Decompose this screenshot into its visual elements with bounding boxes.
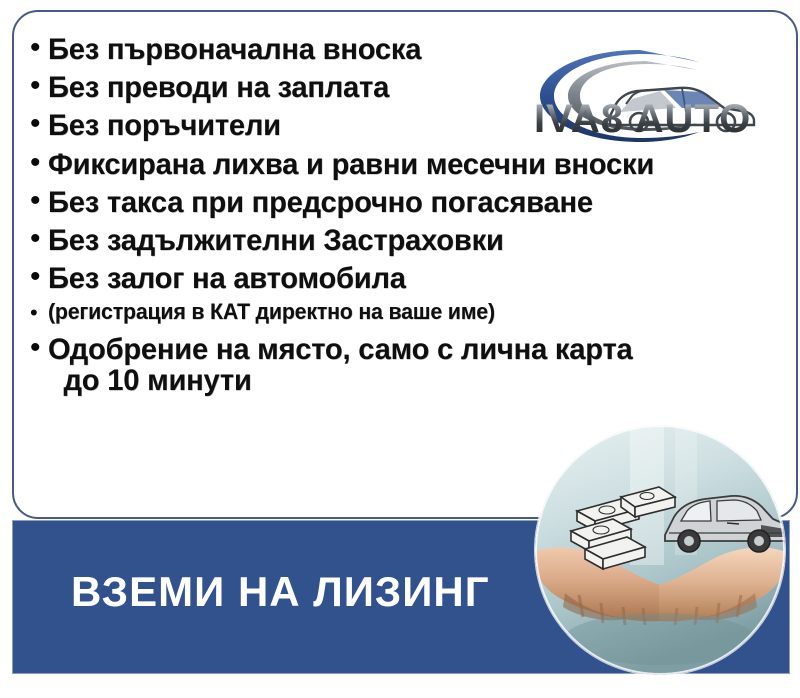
list-item: • Фиксирана лихва и равни месечни вноски <box>30 149 790 180</box>
bullet-dot-icon: • <box>30 34 48 62</box>
list-item: • Без такса при предсрочно погасяване <box>30 187 790 218</box>
benefit-text: Без задължителни Застраховки <box>48 225 768 256</box>
list-item: • (регистрация в КАТ директно на ваше им… <box>30 301 790 325</box>
bullet-dot-icon: • <box>30 149 48 177</box>
hands-money-car-photo <box>535 425 785 675</box>
benefit-note-text: (регистрация в КАТ директно на ваше име) <box>48 301 768 324</box>
bullet-dot-icon: • <box>30 263 48 291</box>
benefit-text: Одобрение на място, само с лична карта д… <box>48 334 768 396</box>
benefit-text-line-1: Одобрение на място, само с лична карта <box>48 333 633 366</box>
bullet-dot-icon: • <box>30 187 48 215</box>
bullet-dot-icon: • <box>30 110 48 138</box>
leasing-promo-poster: • Без първоначална вноска • Без преводи … <box>0 0 800 698</box>
bullet-dot-icon: • <box>30 225 48 253</box>
cta-banner-text: ВЗЕМИ НА ЛИЗИНГ <box>71 568 490 616</box>
benefit-text: Фиксирана лихва и равни месечни вноски <box>48 149 768 180</box>
list-item: • Без задължителни Застраховки <box>30 225 790 256</box>
bullet-dot-icon: • <box>30 301 48 325</box>
benefit-text-line-2: до 10 минути <box>48 365 768 396</box>
logo-wordmark: IVA8 AUTO <box>534 97 751 141</box>
ivas-auto-logo: IVA8 AUTO <box>514 42 764 150</box>
bullet-dot-icon: • <box>30 334 48 362</box>
list-item: • Без залог на автомобила <box>30 263 790 294</box>
benefit-text: Без такса при предсрочно погасяване <box>48 187 768 218</box>
list-item: • Одобрение на място, само с лична карта… <box>30 334 790 396</box>
benefit-text: Без залог на автомобила <box>48 263 768 294</box>
bullet-dot-icon: • <box>30 72 48 100</box>
